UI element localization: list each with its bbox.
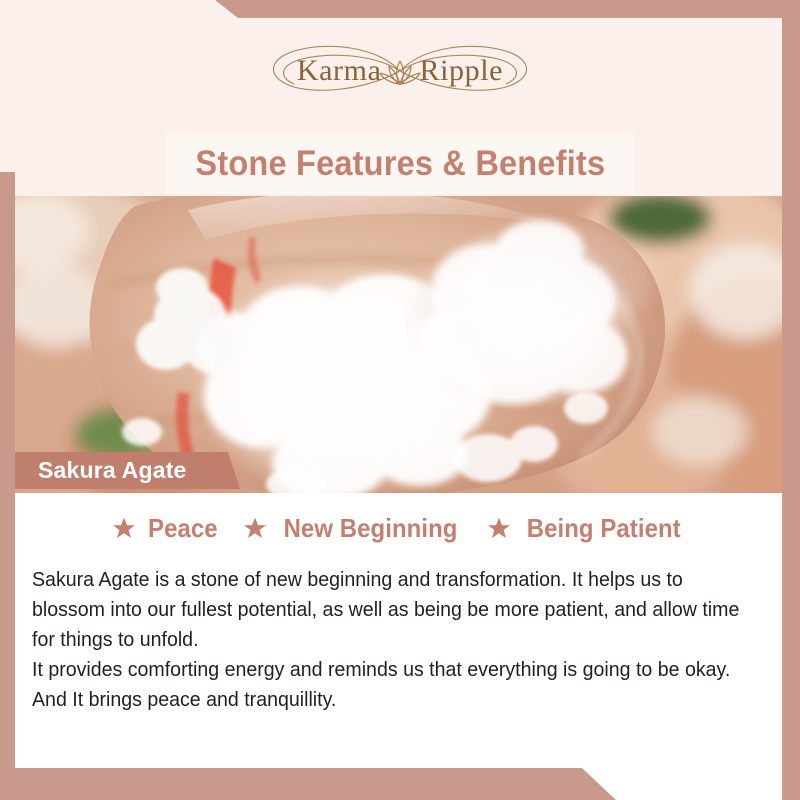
features-row: Peace New Beginning Being Patient <box>0 515 800 541</box>
feature-label: New Beginning <box>284 515 458 541</box>
feature-item: Being Patient <box>487 515 687 541</box>
body-section: Peace New Beginning Being Patient Sakura… <box>0 493 800 800</box>
feature-item: New Beginning <box>243 515 465 541</box>
description-line-1: Sakura Agate is a stone of new beginning… <box>32 565 746 655</box>
title-banner: Stone Features & Benefits <box>165 133 635 194</box>
sakura-agate-photo-graphic <box>0 196 800 493</box>
feature-label: Being Patient <box>527 515 681 541</box>
feature-label: Peace <box>148 515 218 541</box>
stone-name-badge: Sakura Agate <box>0 452 248 489</box>
stone-name-label: Sakura Agate <box>38 459 187 482</box>
stone-info-poster: Karma Ripple Stone Features & Benefits <box>0 0 800 800</box>
star-icon <box>112 516 136 540</box>
sakura-agate-photo <box>0 196 800 493</box>
star-icon <box>487 516 511 540</box>
description-line-2: It provides comforting energy and remind… <box>32 655 746 715</box>
description-paragraph: Sakura Agate is a stone of new beginning… <box>32 565 746 715</box>
page-title: Stone Features & Benefits <box>195 146 605 181</box>
frame-left-band <box>0 172 15 800</box>
feature-item: Peace <box>112 515 221 541</box>
frame-right-band <box>782 0 800 800</box>
star-icon <box>243 516 267 540</box>
